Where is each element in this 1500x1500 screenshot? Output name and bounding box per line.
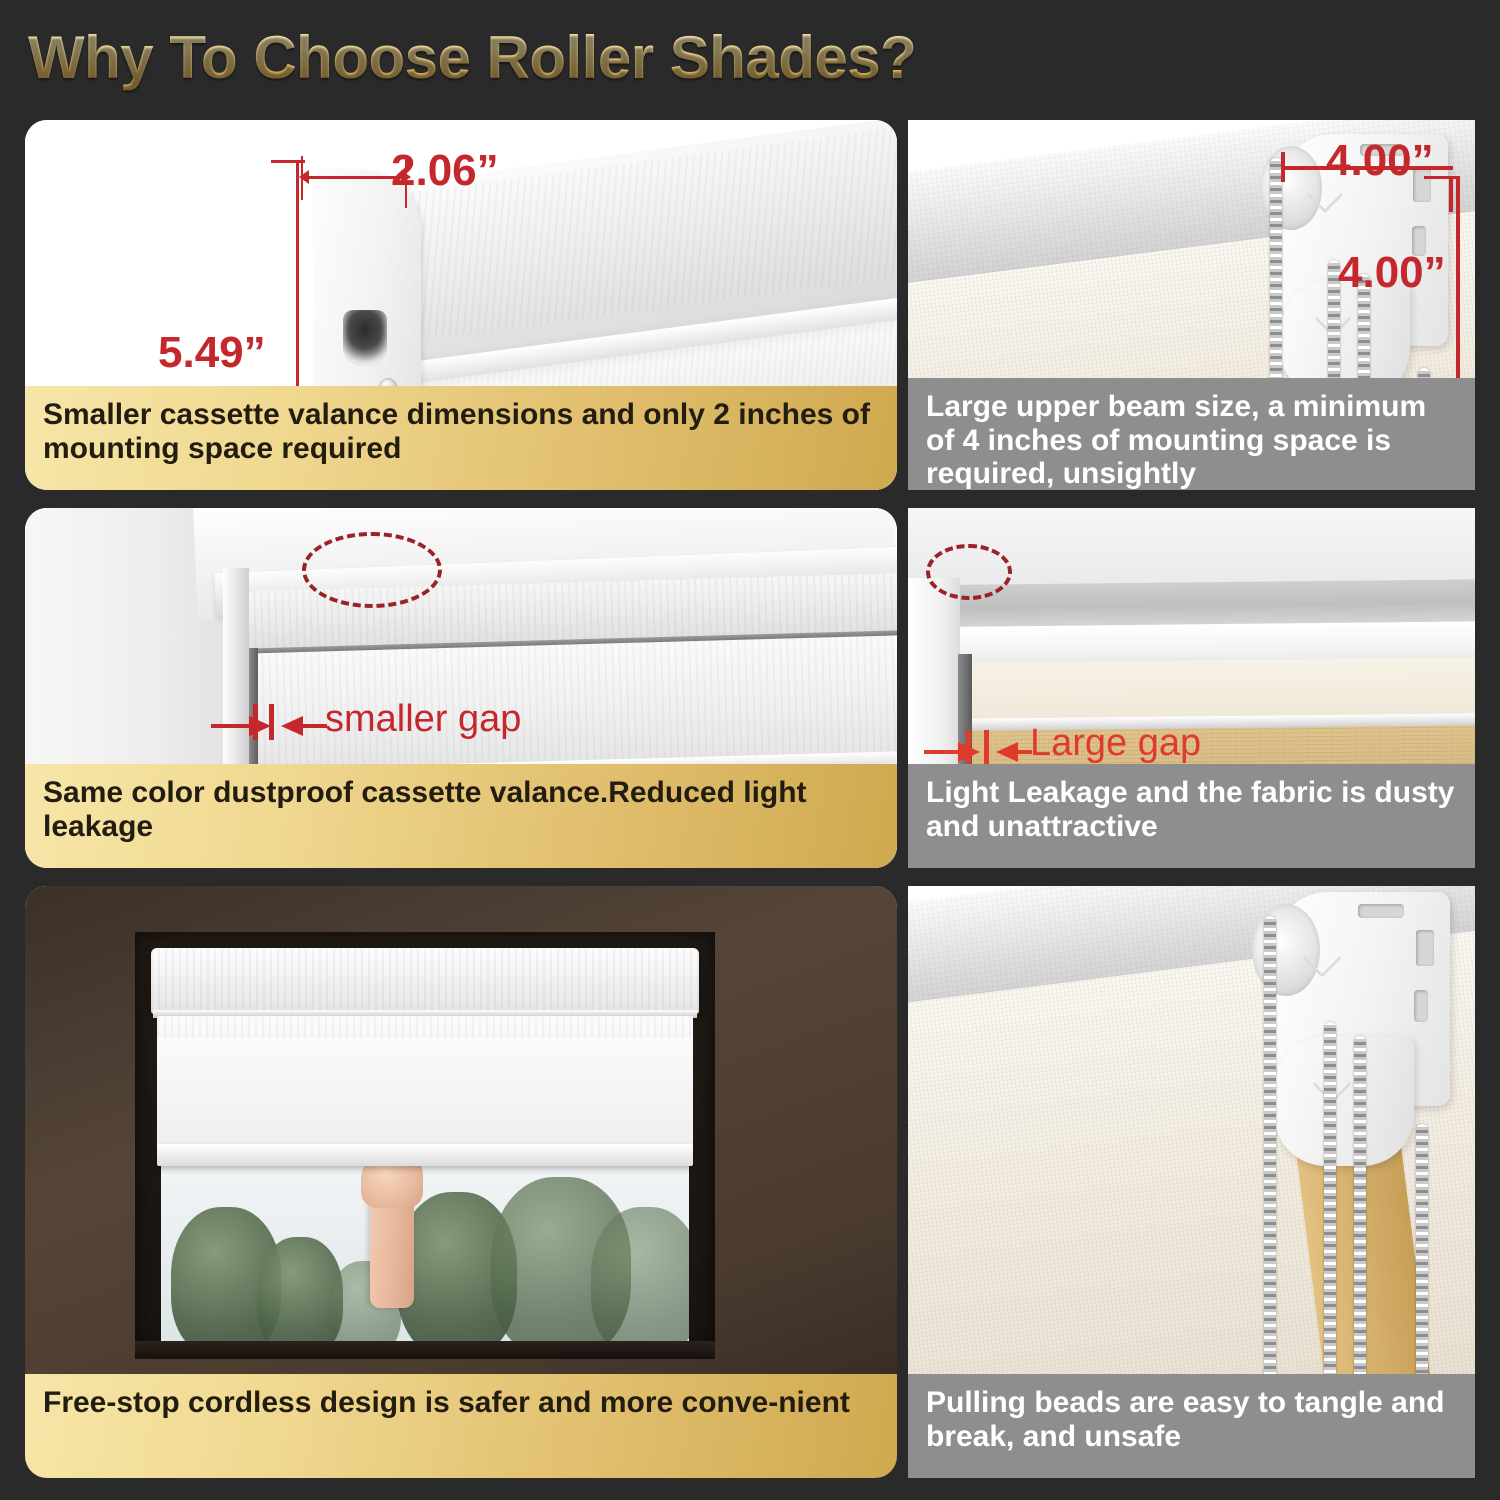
panel-3-gap-callout: smaller gap [325,698,521,741]
panel-4-highlight-circle [926,544,1012,600]
panel-1-width-dimension: 2.06” [391,146,499,196]
panel-4-gap-callout: Large gap [1030,722,1201,765]
panel-2-width-dimension: 4.00” [1326,136,1434,186]
panel-2-caption: Large upper beam size, a minimum of 4 in… [908,378,1475,490]
panel-4: Large gap Light Leakage and the fabric i… [908,508,1475,868]
panel-6: Pulling beads are easy to tangle and bre… [908,886,1475,1478]
panel-2: 4.00” 4.00” Large upper beam size, a min… [908,120,1475,490]
panel-1: 2.06” 5.49” Smaller cassette valance dim… [25,120,897,490]
panel-3-caption: Same color dustproof cassette valance.Re… [25,764,897,868]
panel-2-height-dimension: 4.00” [1338,248,1446,298]
panel-5: Free-stop cordless design is safer and m… [25,886,897,1478]
panel-6-caption: Pulling beads are easy to tangle and bre… [908,1374,1475,1478]
infographic-page: Why To Choose Roller Shades? 2.06” 5.49” [0,0,1500,1500]
panel-4-caption: Light Leakage and the fabric is dusty an… [908,764,1475,868]
panel-3-highlight-circle [302,532,442,608]
panel-3: smaller gap Same color dustproof cassett… [25,508,897,868]
page-title: Why To Choose Roller Shades? [28,22,1128,94]
panel-1-caption: Smaller cassette valance dimensions and … [25,386,897,490]
panel-1-height-dimension: 5.49” [158,328,266,378]
panel-5-caption: Free-stop cordless design is safer and m… [25,1374,897,1478]
